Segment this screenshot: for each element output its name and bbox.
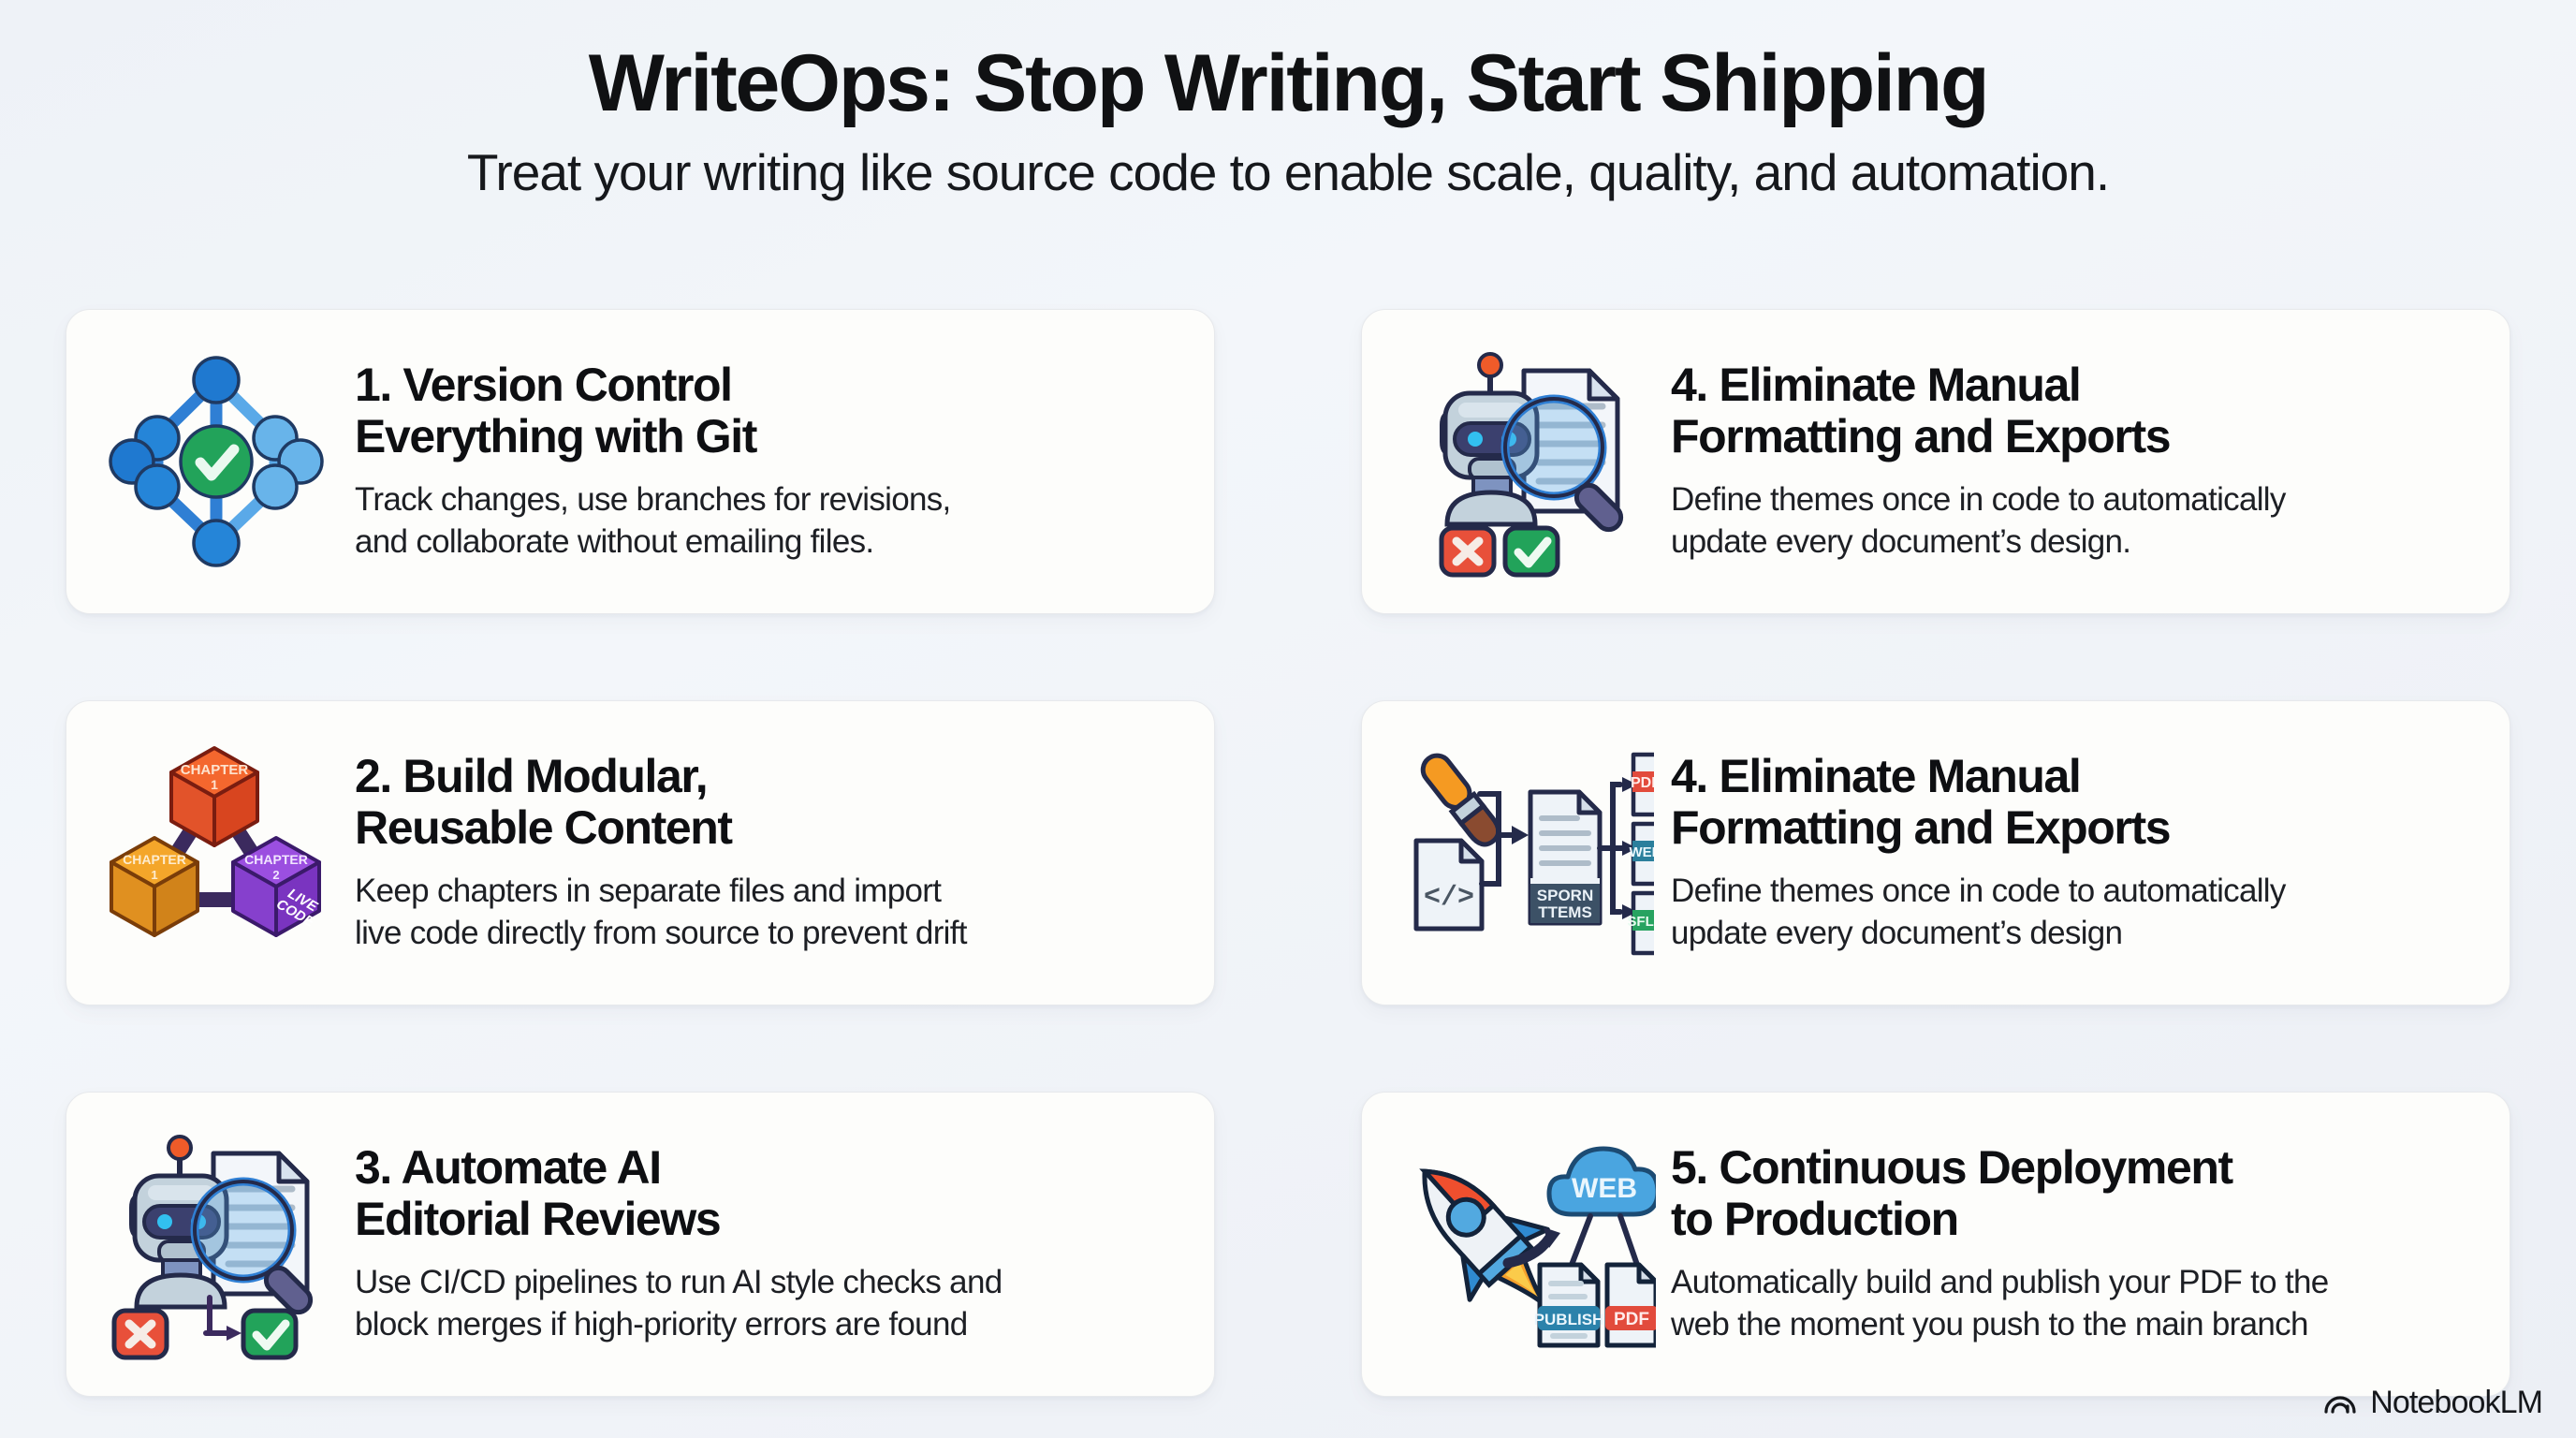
notebooklm-watermark: NotebookLM — [2323, 1385, 2542, 1421]
rocket-deploy-icon: WEB PUBLISH — [1386, 1117, 1667, 1372]
svg-text:CHAPTER: CHAPTER — [181, 762, 249, 778]
card-version-control[interactable]: 1. Version Control Everything with Git T… — [66, 309, 1215, 614]
card-automate-ai[interactable]: 3. Automate AI Editorial Reviews Use CI/… — [66, 1092, 1215, 1397]
svg-text:SPORN: SPORN — [1537, 887, 1593, 904]
svg-text:WEB: WEB — [1630, 844, 1655, 860]
card-body: 1. Version Control Everything with Git T… — [342, 359, 1182, 564]
svg-text:1: 1 — [211, 777, 218, 792]
card-eliminate-manual-middle[interactable]: </> SPORN — [1361, 700, 2510, 1005]
card-description: Define themes once in code to automatica… — [1671, 479, 2478, 564]
svg-text:PDF: PDF — [1614, 1310, 1649, 1329]
svg-text:CHAPTER: CHAPTER — [123, 852, 186, 867]
card-body: 3. Automate AI Editorial Reviews Use CI/… — [342, 1142, 1182, 1346]
robot-review-icon — [1386, 334, 1667, 589]
card-description: Define themes once in code to automatica… — [1671, 871, 2478, 955]
card-description: Use CI/CD pipelines to run AI style chec… — [355, 1262, 1182, 1346]
card-eliminate-manual-top[interactable]: 4. Eliminate Manual Formatting and Expor… — [1361, 309, 2510, 614]
page-subtitle: Treat your writing like source code to e… — [0, 146, 2576, 200]
card-title: 4. Eliminate Manual Formatting and Expor… — [1671, 359, 2478, 462]
robot-review-icon — [91, 1119, 342, 1370]
card-body: 2. Build Modular, Reusable Content Keep … — [342, 751, 1182, 955]
git-branch-graph-icon — [91, 336, 342, 587]
card-title: 3. Automate AI Editorial Reviews — [355, 1142, 1182, 1245]
svg-text:</>: </> — [1424, 882, 1474, 914]
svg-text:PDF: PDF — [1631, 775, 1654, 791]
card-title: 5. Continuous Deployment to Production — [1671, 1142, 2478, 1245]
card-body: 5. Continuous Deployment to Production A… — [1667, 1142, 2478, 1346]
cards-grid: 1. Version Control Everything with Git T… — [66, 309, 2510, 1397]
svg-text:TTEMS: TTEMS — [1538, 903, 1592, 921]
svg-text:2: 2 — [272, 868, 279, 882]
notebooklm-label: NotebookLM — [2370, 1385, 2542, 1421]
export-pipeline-icon: </> SPORN — [1386, 726, 1667, 980]
svg-text:WEB: WEB — [1572, 1173, 1637, 1204]
card-body: 4. Eliminate Manual Formatting and Expor… — [1667, 359, 2478, 564]
modular-cubes-icon: CHAPTER 1 CHAPTER 1 CHAPTER 2 — [91, 727, 342, 978]
page-title: WriteOps: Stop Writing, Start Shipping — [0, 43, 2576, 124]
card-title: 2. Build Modular, Reusable Content — [355, 751, 1182, 854]
card-continuous-deployment[interactable]: WEB PUBLISH — [1361, 1092, 2510, 1397]
svg-text:1: 1 — [151, 868, 157, 882]
card-title: 4. Eliminate Manual Formatting and Expor… — [1671, 751, 2478, 854]
card-description: Track changes, use branches for revision… — [355, 479, 1182, 564]
svg-text:CHAPTER: CHAPTER — [244, 852, 308, 867]
card-title: 1. Version Control Everything with Git — [355, 359, 1182, 462]
page-header: WriteOps: Stop Writing, Start Shipping T… — [0, 0, 2576, 200]
card-build-modular[interactable]: CHAPTER 1 CHAPTER 1 CHAPTER 2 — [66, 700, 1215, 1005]
card-description: Keep chapters in separate files and impo… — [355, 871, 1182, 955]
svg-text:PUBLISH: PUBLISH — [1534, 1311, 1604, 1328]
svg-text:SFLB: SFLB — [1627, 914, 1654, 930]
card-description: Automatically build and publish your PDF… — [1671, 1262, 2478, 1346]
card-body: 4. Eliminate Manual Formatting and Expor… — [1667, 751, 2478, 955]
notebooklm-logo-icon — [2323, 1386, 2357, 1420]
